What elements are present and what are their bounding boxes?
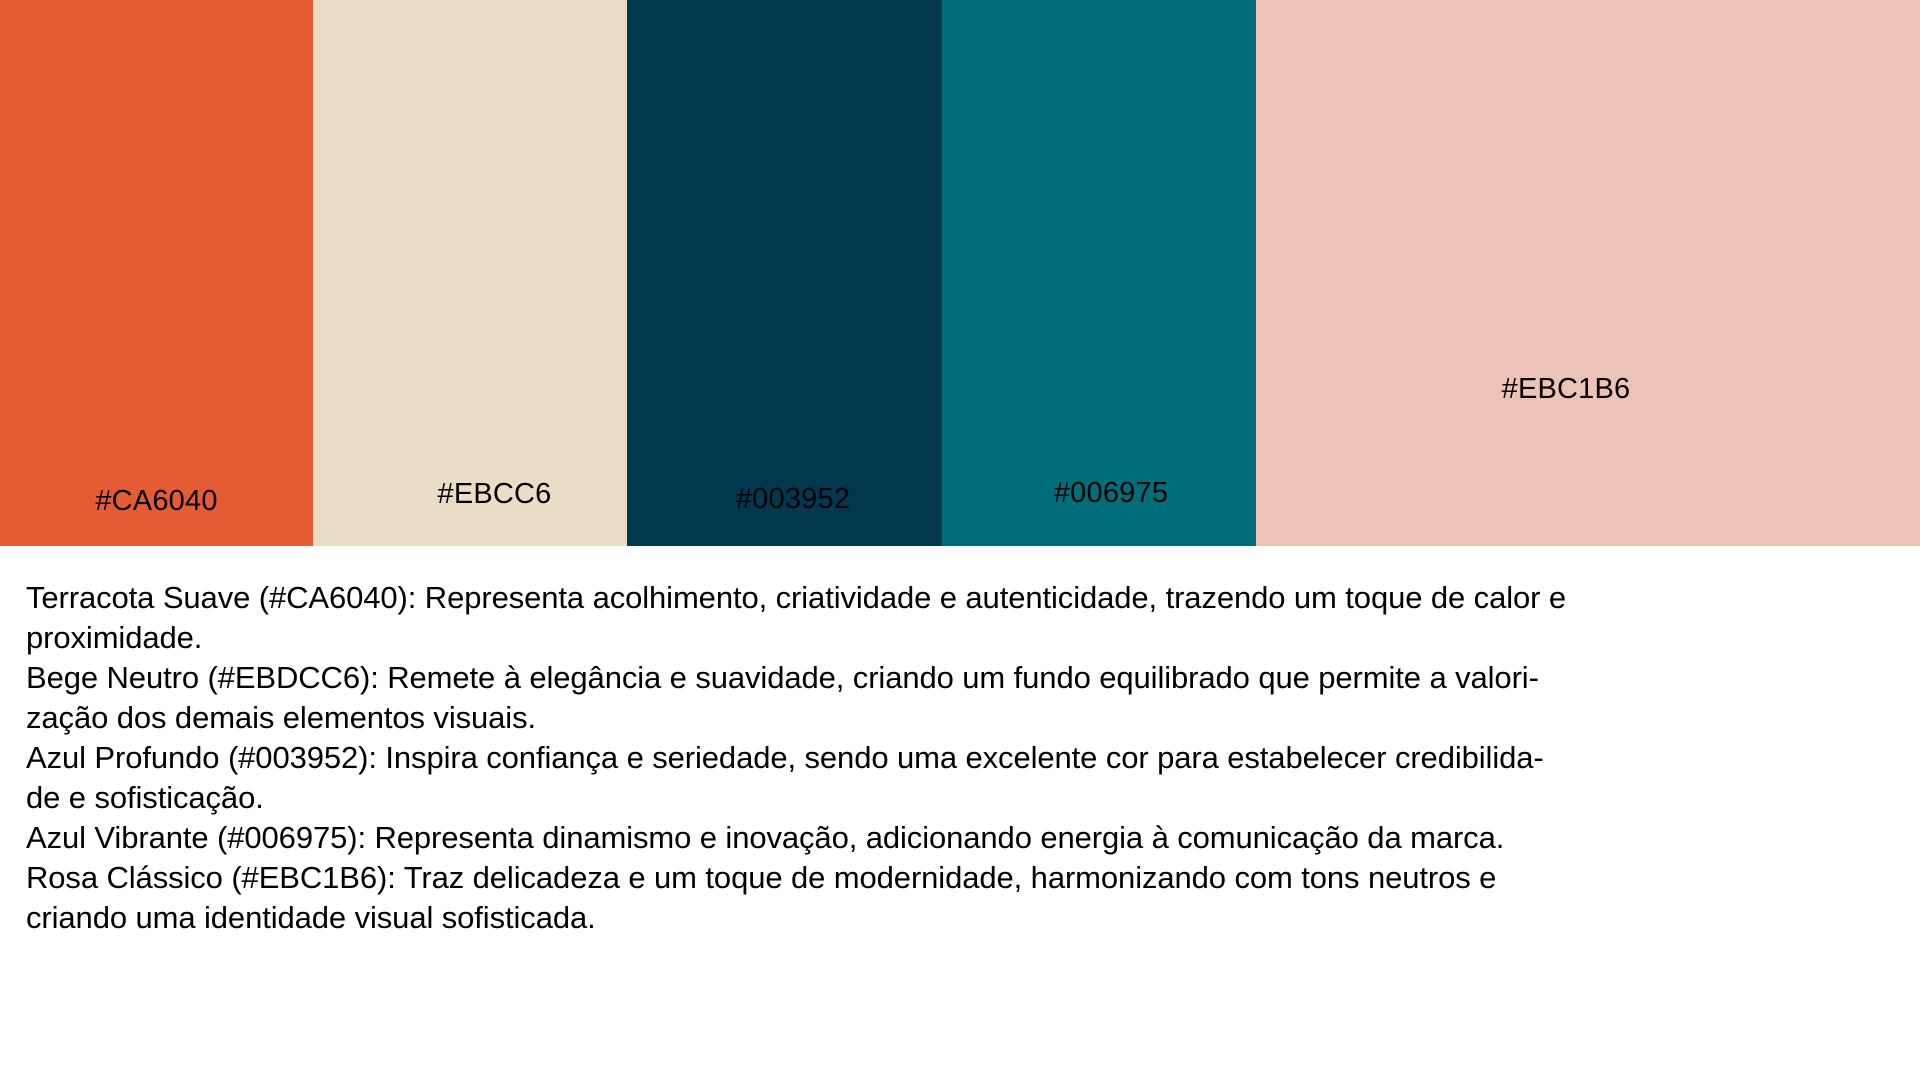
color-swatch-azul-profundo[interactable]: #003952 bbox=[627, 0, 942, 546]
description-line: proximidade. bbox=[0, 618, 1920, 658]
description-line: Terracota Suave (#CA6040): Representa ac… bbox=[0, 546, 1920, 618]
color-swatch-label: #003952 bbox=[644, 483, 942, 516]
description-line: zação dos demais elementos visuais. bbox=[0, 698, 1920, 738]
color-swatch-rosa-classico[interactable]: #EBC1B6 bbox=[1256, 0, 1920, 546]
color-swatch-label: #EBC1B6 bbox=[1256, 373, 1876, 406]
color-swatch-terracota-suave[interactable]: #CA6040 bbox=[0, 0, 313, 546]
palette-descriptions: Terracota Suave (#CA6040): Representa ac… bbox=[0, 546, 1920, 938]
description-line: criando uma identidade visual sofisticad… bbox=[0, 898, 1920, 938]
color-swatch-label: #EBCC6 bbox=[362, 478, 627, 511]
description-line: Rosa Clássico (#EBC1B6): Traz delicadeza… bbox=[0, 858, 1920, 898]
color-palette-strip: #CA6040 #EBCC6 #003952 #006975 #EBC1B6 bbox=[0, 0, 1920, 546]
color-swatch-azul-vibrante[interactable]: #006975 bbox=[942, 0, 1256, 546]
description-line: Azul Profundo (#003952): Inspira confian… bbox=[0, 738, 1920, 778]
description-line: de e sofisticação. bbox=[0, 778, 1920, 818]
color-swatch-label: #006975 bbox=[966, 477, 1256, 510]
description-line: Azul Vibrante (#006975): Representa dina… bbox=[0, 818, 1920, 858]
color-swatch-label: #CA6040 bbox=[0, 485, 313, 518]
color-swatch-bege-neutro[interactable]: #EBCC6 bbox=[313, 0, 627, 546]
description-line: Bege Neutro (#EBDCC6): Remete à elegânci… bbox=[0, 658, 1920, 698]
